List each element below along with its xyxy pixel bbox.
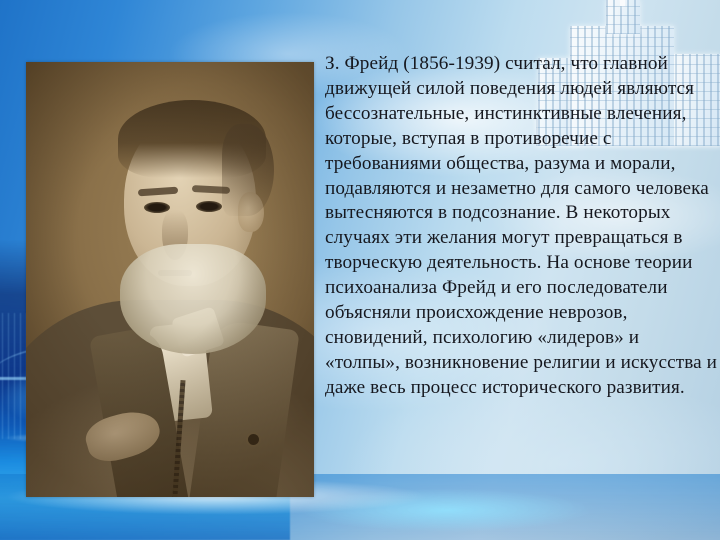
slide-body-text: З. Фрейд (1856-1939) считал, что главной… xyxy=(325,52,717,401)
presentation-slide: З. Фрейд (1856-1939) считал, что главной… xyxy=(0,0,720,540)
freud-portrait-photo xyxy=(26,62,314,497)
